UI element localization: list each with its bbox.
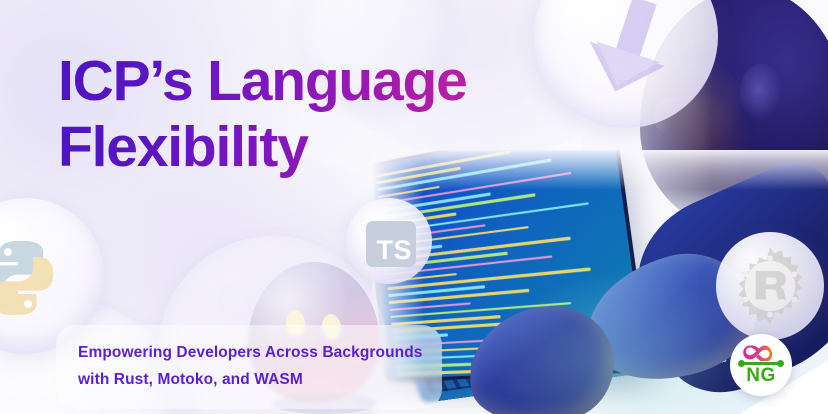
typescript-icon: TS	[366, 221, 416, 267]
rust-icon	[728, 244, 812, 328]
subtitle-panel: Empowering Developers Across Backgrounds…	[56, 325, 442, 409]
subtitle-line-2: with Rust, Motoko, and WASM	[78, 366, 420, 393]
rust-logo-bubble	[716, 232, 824, 340]
python-icon	[0, 236, 60, 320]
typescript-logo-bubble: TS	[346, 198, 432, 284]
badge-label: NG	[746, 366, 776, 386]
badge-rule	[741, 362, 781, 365]
infinity-icon	[741, 344, 781, 361]
banner-image: TS	[0, 0, 828, 414]
subtitle-line-1: Empowering Developers Across Backgrounds	[78, 339, 420, 366]
internet-computer-icon	[578, 0, 682, 98]
ng-badge: NG	[730, 334, 792, 396]
page-title: ICP’s Language Flexibility	[58, 48, 578, 180]
portrait-ear	[740, 64, 782, 120]
